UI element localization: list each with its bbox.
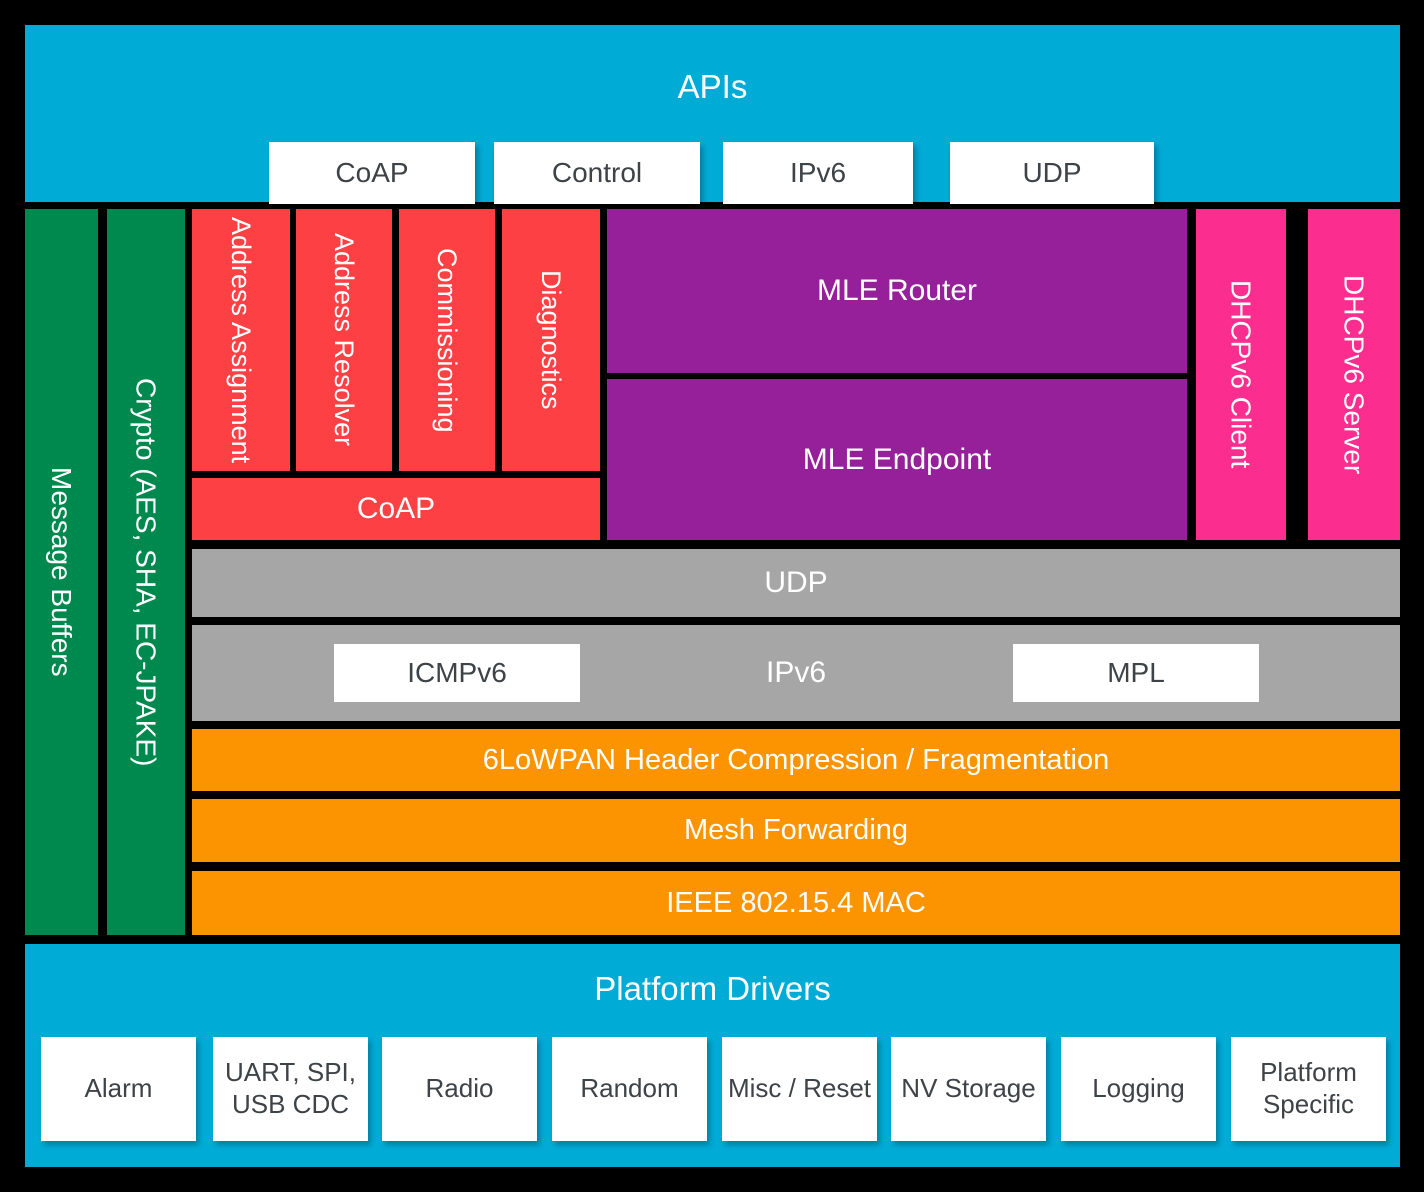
mle-label: MLE Router: [817, 274, 977, 308]
app-block-coap: CoAP: [192, 478, 600, 540]
side-column-crypto: Crypto (AES, SHA, EC-JPAKE): [107, 209, 185, 935]
driver-box-platform-specific[interactable]: Platform Specific: [1231, 1037, 1386, 1141]
udp-layer: UDP: [192, 549, 1400, 617]
link-layer-label: IEEE 802.15.4 MAC: [666, 887, 926, 919]
app-block-label: Diagnostics: [536, 270, 566, 410]
app-block-address-resolver: Address Resolver: [296, 209, 392, 471]
side-column-label: Crypto (AES, SHA, EC-JPAKE): [130, 378, 161, 766]
mle-label: MLE Endpoint: [803, 443, 991, 477]
api-box-coap[interactable]: CoAP: [269, 142, 475, 204]
dhcpv6-server-block: DHCPv6 Server: [1308, 209, 1400, 540]
ipv6-chip-mpl[interactable]: MPL: [1013, 644, 1259, 702]
dhcp-label: DHCPv6 Server: [1338, 275, 1369, 474]
mle-router-block: MLE Router: [607, 209, 1187, 373]
link-layer-mesh-forwarding: Mesh Forwarding: [192, 799, 1400, 862]
driver-box-radio[interactable]: Radio: [382, 1037, 537, 1141]
architecture-diagram: APIs CoAP Control IPv6 UDP Message Buffe…: [0, 0, 1424, 1192]
ipv6-layer: IPv6 ICMPv6 MPL: [192, 625, 1400, 721]
driver-box-uart-spi-usb-cdc[interactable]: UART, SPI, USB CDC: [213, 1037, 368, 1141]
app-block-diagnostics: Diagnostics: [502, 209, 600, 471]
app-block-label: CoAP: [357, 492, 435, 526]
link-layer-label: 6LoWPAN Header Compression / Fragmentati…: [483, 744, 1109, 776]
driver-box-misc-reset[interactable]: Misc / Reset: [722, 1037, 877, 1141]
app-block-label: Address Resolver: [329, 233, 359, 446]
ipv6-chip-icmpv6[interactable]: ICMPv6: [334, 644, 580, 702]
mle-endpoint-block: MLE Endpoint: [607, 379, 1187, 540]
api-box-udp[interactable]: UDP: [950, 142, 1154, 204]
side-column-label: Message Buffers: [46, 467, 77, 677]
app-block-label: Commissioning: [432, 248, 462, 433]
platform-drivers-title: Platform Drivers: [25, 971, 1400, 1008]
udp-label: UDP: [764, 566, 827, 600]
apis-band: APIs CoAP Control IPv6 UDP: [25, 25, 1400, 202]
driver-box-random[interactable]: Random: [552, 1037, 707, 1141]
api-box-control[interactable]: Control: [494, 142, 700, 204]
platform-drivers-band: Platform Drivers Alarm UART, SPI, USB CD…: [25, 944, 1400, 1167]
link-layer-ieee-802-15-4-mac: IEEE 802.15.4 MAC: [192, 871, 1400, 935]
driver-box-logging[interactable]: Logging: [1061, 1037, 1216, 1141]
dhcp-label: DHCPv6 Client: [1225, 280, 1256, 468]
driver-box-alarm[interactable]: Alarm: [41, 1037, 196, 1141]
apis-title: APIs: [25, 69, 1400, 106]
driver-box-nv-storage[interactable]: NV Storage: [891, 1037, 1046, 1141]
dhcpv6-client-block: DHCPv6 Client: [1196, 209, 1286, 540]
link-layer-label: Mesh Forwarding: [684, 814, 908, 846]
link-layer-6lowpan: 6LoWPAN Header Compression / Fragmentati…: [192, 729, 1400, 791]
api-box-ipv6[interactable]: IPv6: [723, 142, 913, 204]
app-block-commissioning: Commissioning: [399, 209, 495, 471]
side-column-message-buffers: Message Buffers: [25, 209, 98, 935]
app-block-label: Address Assignment: [226, 217, 256, 463]
app-block-address-assignment: Address Assignment: [192, 209, 290, 471]
